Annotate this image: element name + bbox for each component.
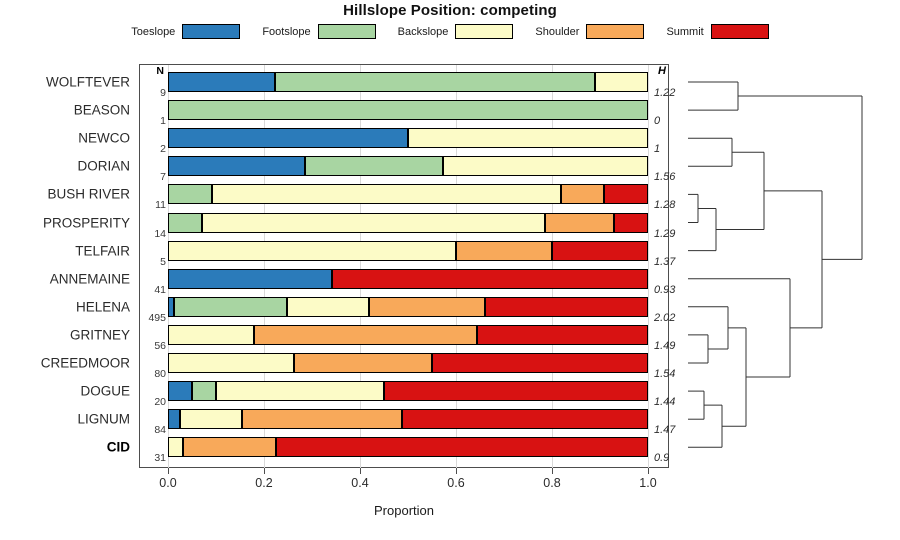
bar-segment-backslope (216, 381, 384, 401)
h-value: 2.02 (654, 312, 675, 324)
h-value: 0.9 (654, 452, 669, 464)
row-label-beason: BEASON (74, 103, 130, 118)
bar-row-gritney[interactable] (168, 325, 648, 345)
legend-swatch-shoulder (586, 24, 644, 39)
bar-segment-footslope (168, 213, 202, 233)
row-label-lignum: LIGNUM (77, 412, 130, 427)
bar-segment-toeslope (168, 381, 192, 401)
legend-entry-footslope: Footslope (262, 24, 375, 39)
dendrogram (676, 64, 900, 468)
legend-label: Toeslope (131, 26, 175, 38)
bar-segment-shoulder (254, 325, 477, 345)
bar-segment-backslope (168, 437, 183, 457)
bar-row-telfair[interactable] (168, 241, 648, 261)
bar-segment-shoulder (294, 353, 432, 373)
h-value: 1 (654, 143, 660, 155)
row-label-newco: NEWCO (78, 131, 130, 146)
h-value: 0 (654, 115, 660, 127)
bar-segment-backslope (443, 156, 648, 176)
row-label-creedmoor: CREEDMOOR (41, 356, 130, 371)
x-tick-mark (648, 468, 649, 474)
bar-segment-footslope (275, 72, 595, 92)
bar-segment-footslope (192, 381, 216, 401)
n-value: 20 (154, 396, 166, 408)
bar-segment-toeslope (168, 72, 275, 92)
bar-segment-summit (402, 409, 648, 429)
legend: ToeslopeFootslopeBackslopeShoulderSummit (0, 24, 900, 39)
legend-swatch-toeslope (182, 24, 240, 39)
x-tick-label: 0.4 (351, 476, 368, 490)
x-tick-mark (552, 468, 553, 474)
bar-segment-backslope (168, 325, 254, 345)
bar-segment-shoulder (545, 213, 614, 233)
h-value: 1.22 (654, 87, 675, 99)
row-label-annemaine: ANNEMAINE (50, 271, 130, 286)
bar-segment-summit (332, 269, 648, 289)
bar-row-beason[interactable] (168, 100, 648, 120)
h-value: 1.28 (654, 199, 675, 211)
legend-entry-backslope: Backslope (398, 24, 514, 39)
legend-swatch-backslope (455, 24, 513, 39)
bar-segment-footslope (168, 184, 212, 204)
n-value: 56 (154, 340, 166, 352)
bar-segment-backslope (202, 213, 545, 233)
bar-segment-footslope (305, 156, 442, 176)
row-label-helena: HELENA (76, 299, 130, 314)
x-tick-mark (360, 468, 361, 474)
n-value: 14 (154, 228, 166, 240)
x-tick-label: 0.6 (447, 476, 464, 490)
bar-segment-backslope (595, 72, 648, 92)
bar-segment-shoulder (242, 409, 402, 429)
bar-segment-shoulder (183, 437, 276, 457)
legend-label: Backslope (398, 26, 449, 38)
bar-segment-summit (485, 297, 648, 317)
h-value: 0.93 (654, 284, 675, 296)
row-label-dogue: DOGUE (80, 384, 130, 399)
row-label-prosperity: PROSPERITY (43, 215, 130, 230)
bar-segment-summit (552, 241, 648, 261)
h-value: 1.49 (654, 340, 675, 352)
row-label-bush-river: BUSH RIVER (47, 187, 130, 202)
n-count-column: N912711145414955680208431 (140, 64, 168, 468)
bar-row-dogue[interactable] (168, 381, 648, 401)
bar-segment-toeslope (168, 156, 305, 176)
n-value: 1 (160, 115, 166, 127)
n-value: 5 (160, 256, 166, 268)
bar-segment-summit (276, 437, 648, 457)
bar-row-annemaine[interactable] (168, 269, 648, 289)
bar-segment-backslope (408, 128, 648, 148)
row-label-telfair: TELFAIR (75, 243, 130, 258)
h-value: 1.29 (654, 228, 675, 240)
bar-segment-footslope (168, 100, 648, 120)
bar-segment-summit (477, 325, 648, 345)
bar-segment-backslope (168, 241, 456, 261)
bar-segment-shoulder (561, 184, 605, 204)
bar-segment-footslope (174, 297, 287, 317)
legend-label: Footslope (262, 26, 310, 38)
bar-segment-toeslope (168, 269, 332, 289)
x-tick-mark (456, 468, 457, 474)
x-tick-label: 0.2 (255, 476, 272, 490)
h-column-header: H (658, 65, 666, 77)
n-value: 11 (155, 199, 166, 211)
bar-segment-shoulder (456, 241, 552, 261)
bar-row-prosperity[interactable] (168, 213, 648, 233)
bar-row-creedmoor[interactable] (168, 353, 648, 373)
legend-label: Shoulder (535, 26, 579, 38)
bar-row-wolftever[interactable] (168, 72, 648, 92)
bar-segment-summit (614, 213, 648, 233)
bar-row-dorian[interactable] (168, 156, 648, 176)
bar-row-cid[interactable] (168, 437, 648, 457)
row-label-column: WOLFTEVERBEASONNEWCODORIANBUSH RIVERPROS… (0, 64, 136, 468)
x-tick-mark (264, 468, 265, 474)
bar-segment-summit (604, 184, 648, 204)
n-value: 9 (160, 87, 166, 99)
x-tick-label: 0.8 (543, 476, 560, 490)
gridline (648, 65, 649, 469)
h-value: 1.37 (654, 256, 675, 268)
row-label-dorian: DORIAN (77, 159, 130, 174)
legend-entry-shoulder: Shoulder (535, 24, 644, 39)
bar-segment-backslope (180, 409, 243, 429)
legend-entry-toeslope: Toeslope (131, 24, 240, 39)
n-column-header: N (156, 65, 164, 77)
plot-area (139, 64, 669, 468)
bar-segment-toeslope (168, 128, 408, 148)
n-value: 495 (148, 312, 166, 324)
bar-segment-summit (384, 381, 648, 401)
bar-row-lignum[interactable] (168, 409, 648, 429)
row-label-wolftever: WOLFTEVER (46, 75, 130, 90)
n-value: 2 (160, 143, 166, 155)
n-value: 7 (160, 171, 166, 183)
legend-swatch-summit (711, 24, 769, 39)
h-value: 1.56 (654, 171, 675, 183)
row-label-gritney: GRITNEY (70, 327, 130, 342)
n-value: 31 (154, 452, 166, 464)
legend-entry-summit: Summit (666, 24, 768, 39)
bar-segment-backslope (168, 353, 294, 373)
bar-row-newco[interactable] (168, 128, 648, 148)
legend-swatch-footslope (318, 24, 376, 39)
n-value: 80 (154, 368, 166, 380)
bar-segment-backslope (212, 184, 561, 204)
bar-row-helena[interactable] (168, 297, 648, 317)
bar-row-bush-river[interactable] (168, 184, 648, 204)
x-tick-label: 1.0 (639, 476, 656, 490)
n-value: 41 (154, 284, 166, 296)
bar-segment-summit (432, 353, 648, 373)
row-label-cid: CID (107, 440, 130, 455)
bar-segment-shoulder (369, 297, 486, 317)
x-tick-label: 0.0 (159, 476, 176, 490)
x-tick-mark (168, 468, 169, 474)
page-title: Hillslope Position: competing (0, 2, 900, 19)
h-value: 1.47 (654, 424, 675, 436)
x-axis-label: Proportion (139, 503, 669, 518)
h-value: 1.54 (654, 368, 675, 380)
h-value: 1.44 (654, 396, 675, 408)
n-value: 84 (154, 424, 166, 436)
bar-segment-toeslope (168, 409, 180, 429)
bar-segment-backslope (287, 297, 369, 317)
legend-label: Summit (666, 26, 703, 38)
